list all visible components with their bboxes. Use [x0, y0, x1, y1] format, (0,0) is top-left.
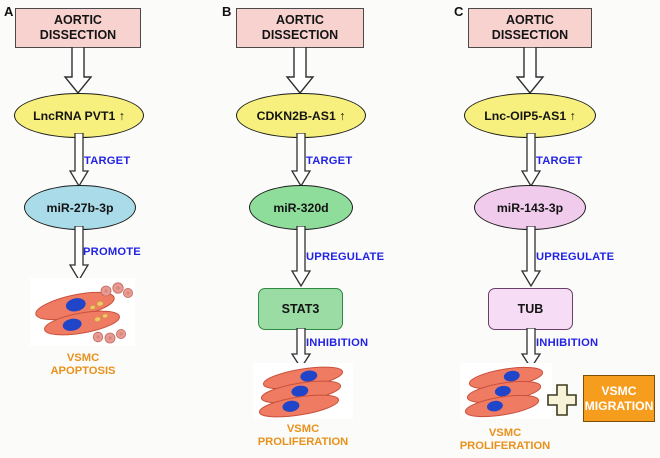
- node-label: STAT3: [282, 302, 320, 317]
- node-label-line1: AORTIC: [54, 13, 102, 28]
- outcome-line1: VSMC: [18, 352, 148, 365]
- node-mirna-27b-3p: miR-27b-3p: [24, 185, 136, 230]
- panel-c: C AORTIC DISSECTION Lnc-OIP5-AS1 ↑ TARGE…: [450, 0, 660, 458]
- node-vsmc-migration: VSMC MIGRATION: [583, 375, 655, 422]
- vsmc-apoptosis-cells-icon: [30, 278, 135, 351]
- node-mirna-320d: miR-320d: [249, 185, 353, 230]
- node-label: Lnc-OIP5-AS1 ↑: [484, 109, 576, 123]
- node-label: miR-143-3p: [497, 201, 563, 215]
- panel-label-a: A: [4, 4, 13, 19]
- node-label-line2: DISSECTION: [262, 28, 338, 43]
- node-protein-tub: TUB: [488, 288, 573, 330]
- node-label-line2: DISSECTION: [492, 28, 568, 43]
- edge-label-target-b: TARGET: [306, 155, 352, 167]
- vsmc-proliferation-cells-icon: [253, 363, 353, 424]
- vsmc-proliferation-cells-icon: [460, 363, 552, 424]
- node-aortic-dissection-c: AORTIC DISSECTION: [468, 8, 592, 48]
- node-lncrna-pvt1: LncRNA PVT1 ↑: [14, 93, 144, 138]
- node-label-line1: AORTIC: [276, 13, 324, 28]
- edge-label-target-c: TARGET: [536, 155, 582, 167]
- node-label-line1: VSMC: [601, 384, 636, 399]
- node-label: TUB: [518, 302, 544, 317]
- node-label-line2: MIGRATION: [585, 399, 654, 414]
- outcome-line2: APOPTOSIS: [18, 365, 148, 378]
- node-label-line1: AORTIC: [506, 13, 554, 28]
- edge-label-inhibition-c: INHIBITION: [536, 337, 598, 349]
- node-label: LncRNA PVT1 ↑: [33, 109, 125, 123]
- node-aortic-dissection-a: AORTIC DISSECTION: [15, 8, 141, 48]
- plus-sign-icon: [546, 383, 578, 422]
- panel-label-b: B: [222, 4, 231, 19]
- edge-label-inhibition-b: INHIBITION: [306, 337, 368, 349]
- outcome-label-a: VSMC APOPTOSIS: [18, 352, 148, 379]
- node-lncrna-oip5-as1: Lnc-OIP5-AS1 ↑: [464, 93, 596, 138]
- panel-a: A AORTIC DISSECTION LncRNA PVT1 ↑ TARGET…: [0, 0, 218, 458]
- outcome-label-c: VSMC PROLIFERATION: [450, 427, 560, 454]
- outcome-label-b: VSMC PROLIFERATION: [233, 423, 373, 450]
- edge-label-promote-a: PROMOTE: [83, 246, 141, 258]
- node-label: miR-27b-3p: [47, 201, 114, 215]
- node-label: CDKN2B-AS1 ↑: [257, 109, 346, 123]
- node-lncrna-cdkn2b-as1: CDKN2B-AS1 ↑: [236, 93, 366, 138]
- node-mirna-143-3p: miR-143-3p: [474, 185, 586, 230]
- edge-label-target-a: TARGET: [84, 155, 130, 167]
- node-aortic-dissection-b: AORTIC DISSECTION: [236, 8, 364, 48]
- outcome-line1: VSMC: [450, 427, 560, 440]
- edge-label-upregulate-b: UPREGULATE: [306, 251, 384, 263]
- outcome-line2: PROLIFERATION: [450, 440, 560, 453]
- outcome-line2: PROLIFERATION: [233, 436, 373, 449]
- node-protein-stat3: STAT3: [258, 288, 343, 330]
- panel-label-c: C: [454, 4, 463, 19]
- outcome-line1: VSMC: [233, 423, 373, 436]
- node-label-line2: DISSECTION: [40, 28, 116, 43]
- panel-b: B AORTIC DISSECTION CDKN2B-AS1 ↑ TARGET …: [218, 0, 450, 458]
- edge-label-upregulate-c: UPREGULATE: [536, 251, 614, 263]
- node-label: miR-320d: [273, 201, 328, 215]
